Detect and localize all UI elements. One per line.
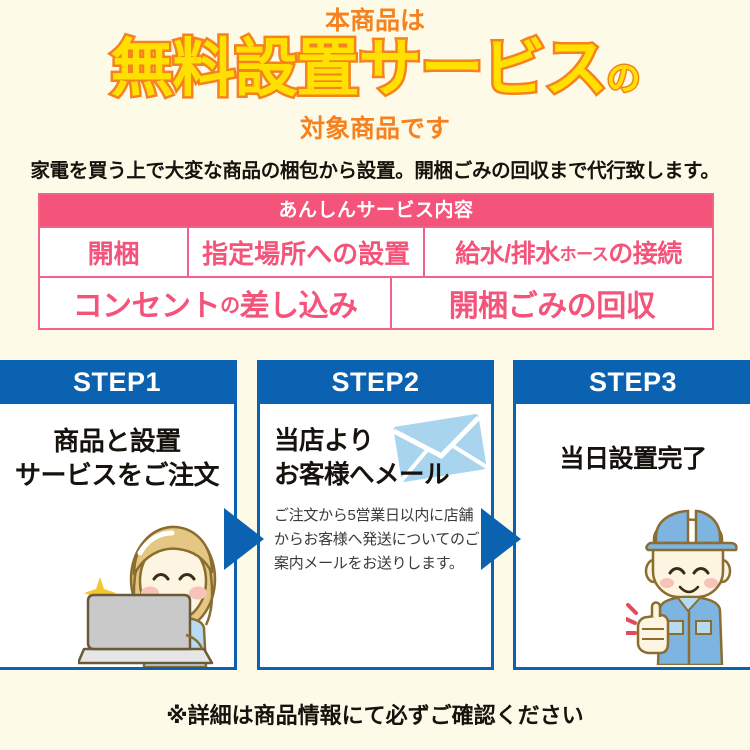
header-main-title: 無料設置サービスの	[0, 32, 750, 116]
step-3-label: STEP3	[513, 360, 750, 404]
step-2-body: 当店より お客様へメール ご注文から5営業日以内に店舗からお客様へ発送についての…	[260, 404, 491, 667]
hose-text-small: ホース	[560, 240, 609, 265]
service-table-row: 開梱 指定場所への設置 給水/排水ホースの接続	[40, 226, 712, 276]
plug-text-b: 差し込み	[240, 281, 358, 325]
service-table-row: コンセントの差し込み 開梱ごみの回収	[40, 276, 712, 328]
step-3-title: 当日設置完了	[526, 424, 740, 476]
header-main-text: 無料設置サービス	[111, 34, 607, 104]
step-1-title-line2: サービスをご注文	[10, 458, 224, 492]
service-item-hose-connection: 給水/排水ホースの接続	[425, 228, 712, 276]
step-2-title-line2: お客様へメール	[274, 458, 481, 492]
header-bottom-line: 対象商品です	[0, 114, 750, 144]
step-1-body: 商品と設置 サービスをご注文	[0, 404, 234, 667]
step-2-label: STEP2	[257, 360, 494, 404]
footer-note: ※詳細は商品情報にて必ずご確認ください	[0, 698, 750, 730]
step-2-title-line1: 当店より	[274, 424, 481, 458]
step-card-2: STEP2 当店より お客様へメール ご注文から5営業日以内に店舗からお客様へ発…	[257, 360, 494, 670]
worker-thumbs-up-illustration	[626, 497, 744, 665]
hose-text-b: の接続	[608, 234, 682, 270]
hose-text-a: 給水/排水	[455, 234, 559, 270]
step-card-3: STEP3 当日設置完了	[513, 360, 750, 670]
step-1-label: STEP1	[0, 360, 237, 404]
step-3-title-line1: 当日設置完了	[526, 442, 740, 476]
step-2-description: ご注文から5営業日以内に店舗からお客様へ発送についてのご案内メールをお送りします…	[270, 504, 481, 576]
step-1-title: 商品と設置 サービスをご注文	[10, 424, 224, 492]
service-item-waste-collection: 開梱ごみの回収	[392, 278, 712, 328]
plug-text-small: の	[220, 289, 240, 318]
arrow-step2-to-step3	[481, 508, 521, 570]
service-item-unpacking: 開梱	[40, 228, 189, 276]
service-item-plug-in: コンセントの差し込み	[40, 278, 392, 328]
step-1-title-line1: 商品と設置	[10, 424, 224, 458]
arrow-step1-to-step2	[224, 508, 264, 570]
plug-text-a: コンセント	[73, 281, 221, 325]
service-item-placement: 指定場所への設置	[189, 228, 425, 276]
steps-section: STEP1 商品と設置 サービスをご注文	[0, 360, 750, 670]
promo-header: 本商品は 無料設置サービスの 対象商品です	[0, 0, 750, 144]
step-3-body: 当日設置完了	[516, 404, 750, 667]
header-main-suffix: の	[607, 60, 640, 98]
service-content-table: あんしんサービス内容 開梱 指定場所への設置 給水/排水ホースの接続 コンセント…	[38, 193, 714, 330]
step-card-1: STEP1 商品と設置 サービスをご注文	[0, 360, 237, 670]
step-2-title: 当店より お客様へメール	[270, 424, 481, 492]
woman-at-laptop-illustration	[78, 517, 237, 667]
service-table-title: あんしんサービス内容	[40, 195, 712, 226]
lead-description: 家電を買う上で大変な商品の梱包から設置。開梱ごみの回収まで代行致します。	[0, 154, 750, 183]
